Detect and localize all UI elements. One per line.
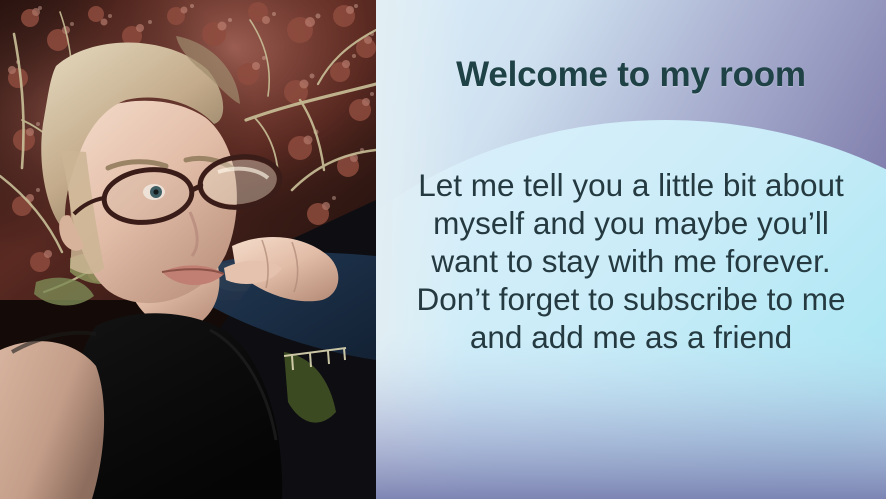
portrait-photo [0,0,376,499]
portrait-photo-image [0,0,376,499]
page-title: Welcome to my room [376,57,886,92]
slide-body-text: Let me tell you a little bit about mysel… [402,166,860,356]
content-panel: Welcome to my room Let me tell you a lit… [376,0,886,499]
text-layer: Welcome to my room Let me tell you a lit… [376,0,886,499]
slide-root: Welcome to my room Let me tell you a lit… [0,0,886,499]
